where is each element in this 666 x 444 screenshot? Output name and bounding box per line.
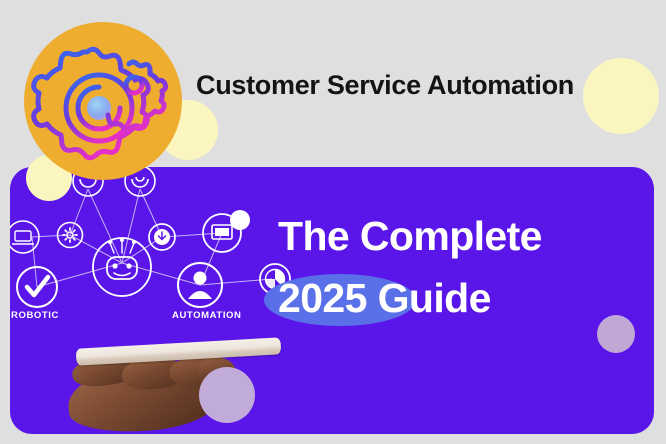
robot-icon [93,238,151,296]
hero-guide-word: Guide [367,275,491,321]
hero-card: ROBOTIC AUTOMATION The Complete 2025 Gui… [10,167,654,434]
decor-circle-pale-topright [583,58,659,134]
accent-dot [230,210,250,230]
gears-automation-icon [24,22,182,180]
automation-badge [24,22,182,180]
label-robotic: ROBOTIC [11,310,59,321]
decor-circle-lavender-bottom [199,367,255,423]
hero-year: 2025 [278,275,367,321]
page-title: Customer Service Automation [196,70,574,101]
poster-canvas: Customer Service Automation [0,0,666,444]
label-automation: AUTOMATION [172,310,242,321]
hero-line-1: The Complete [278,205,648,267]
download-icon [149,224,175,250]
hero-line-2: 2025 Guide [278,267,648,329]
hero-heading: The Complete 2025 Guide [278,205,648,329]
decor-circle-lavender-right [597,315,635,353]
